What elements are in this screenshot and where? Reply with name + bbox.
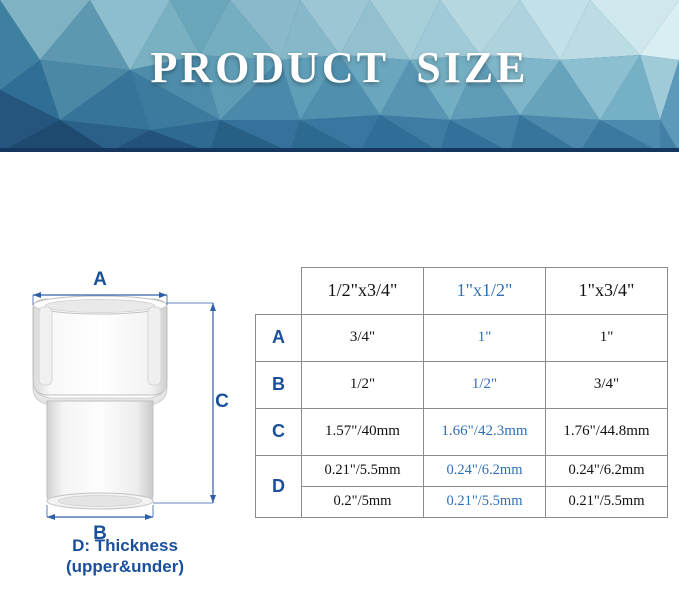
column-header-1: 1"x1/2" bbox=[424, 268, 546, 315]
row-label-d: D bbox=[256, 455, 302, 517]
cell-d-bottom-2: 0.21"/5.5mm bbox=[546, 486, 668, 517]
cell-d-top-0: 0.21"/5.5mm bbox=[302, 455, 424, 486]
table-row: A 3/4" 1" 1" bbox=[256, 314, 668, 361]
cell-d-top-2: 0.24"/6.2mm bbox=[546, 455, 668, 486]
caption-line-2: (upper&under) bbox=[0, 556, 250, 577]
table-row: D 0.21"/5.5mm 0.24"/6.2mm 0.24"/6.2mm bbox=[256, 455, 668, 486]
cell-a-0: 3/4" bbox=[302, 314, 424, 361]
cell-d-bottom-0: 0.2"/5mm bbox=[302, 486, 424, 517]
banner-underline bbox=[0, 148, 679, 152]
dimension-label-c: C bbox=[215, 391, 229, 412]
thickness-caption: D: Thickness (upper&under) bbox=[0, 535, 250, 577]
caption-line-1: D: Thickness bbox=[0, 535, 250, 556]
table-row: C 1.57"/40mm 1.66"/42.3mm 1.76"/44.8mm bbox=[256, 408, 668, 455]
spec-table-container: 1/2"x3/4" 1"x1/2" 1"x3/4" A 3/4" 1" 1" B… bbox=[255, 267, 667, 518]
page-title: PRODUCT SIZE bbox=[0, 42, 679, 93]
cell-a-1: 1" bbox=[424, 314, 546, 361]
cell-d-bottom-1: 0.21"/5.5mm bbox=[424, 486, 546, 517]
cell-a-2: 1" bbox=[546, 314, 668, 361]
dimension-label-a: A bbox=[93, 269, 107, 290]
cell-c-0: 1.57"/40mm bbox=[302, 408, 424, 455]
row-label-c: C bbox=[256, 408, 302, 455]
row-label-b: B bbox=[256, 361, 302, 408]
row-label-a: A bbox=[256, 314, 302, 361]
spec-table: 1/2"x3/4" 1"x1/2" 1"x3/4" A 3/4" 1" 1" B… bbox=[255, 267, 668, 518]
table-row: 0.2"/5mm 0.21"/5.5mm 0.21"/5.5mm bbox=[256, 486, 668, 517]
header-banner: PRODUCT SIZE bbox=[0, 0, 679, 152]
cell-b-1: 1/2" bbox=[424, 361, 546, 408]
cell-b-2: 3/4" bbox=[546, 361, 668, 408]
cell-b-0: 1/2" bbox=[302, 361, 424, 408]
table-corner-cell bbox=[256, 268, 302, 315]
cell-c-1: 1.66"/42.3mm bbox=[424, 408, 546, 455]
table-header-row: 1/2"x3/4" 1"x1/2" 1"x3/4" bbox=[256, 268, 668, 315]
column-header-0: 1/2"x3/4" bbox=[302, 268, 424, 315]
cell-d-top-1: 0.24"/6.2mm bbox=[424, 455, 546, 486]
cell-c-2: 1.76"/44.8mm bbox=[546, 408, 668, 455]
column-header-2: 1"x3/4" bbox=[546, 268, 668, 315]
table-row: B 1/2" 1/2" 3/4" bbox=[256, 361, 668, 408]
